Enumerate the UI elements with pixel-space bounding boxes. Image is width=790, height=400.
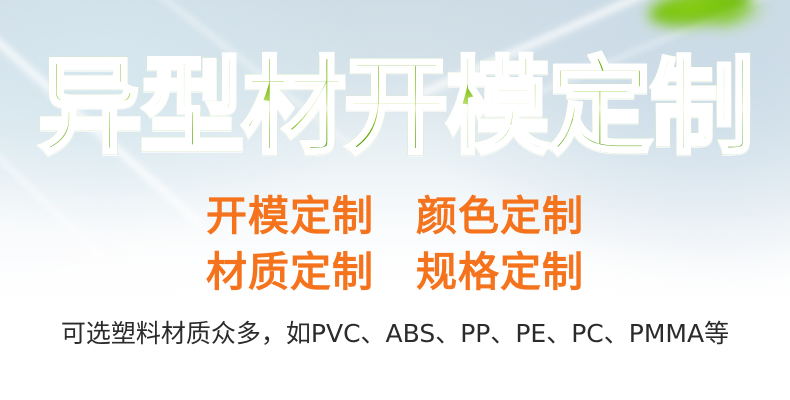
headline-char: 定 bbox=[548, 55, 650, 159]
feature-list: 开模定制 颜色定制 材质定制 规格定制 bbox=[0, 188, 790, 300]
feature-line-1: 开模定制 颜色定制 bbox=[0, 188, 790, 244]
headline: 异 型 材 开 模 定 制 bbox=[0, 47, 790, 167]
headline-char: 异 bbox=[38, 55, 140, 159]
headline-char: 开 bbox=[344, 55, 446, 159]
headline-char: 材 bbox=[242, 55, 344, 159]
material-note: 可选塑料材质众多，如PVC、ABS、PP、PE、PC、PMMA等 bbox=[0, 315, 790, 353]
headline-char: 制 bbox=[650, 55, 752, 159]
headline-char: 模 bbox=[446, 55, 548, 159]
product-feature-banner: 异 型 材 开 模 定 制 开模定制 颜色定制 材质定制 规格定制 可选塑料材质… bbox=[0, 0, 790, 400]
feature-line-2: 材质定制 规格定制 bbox=[0, 244, 790, 300]
headline-char: 型 bbox=[140, 55, 242, 159]
